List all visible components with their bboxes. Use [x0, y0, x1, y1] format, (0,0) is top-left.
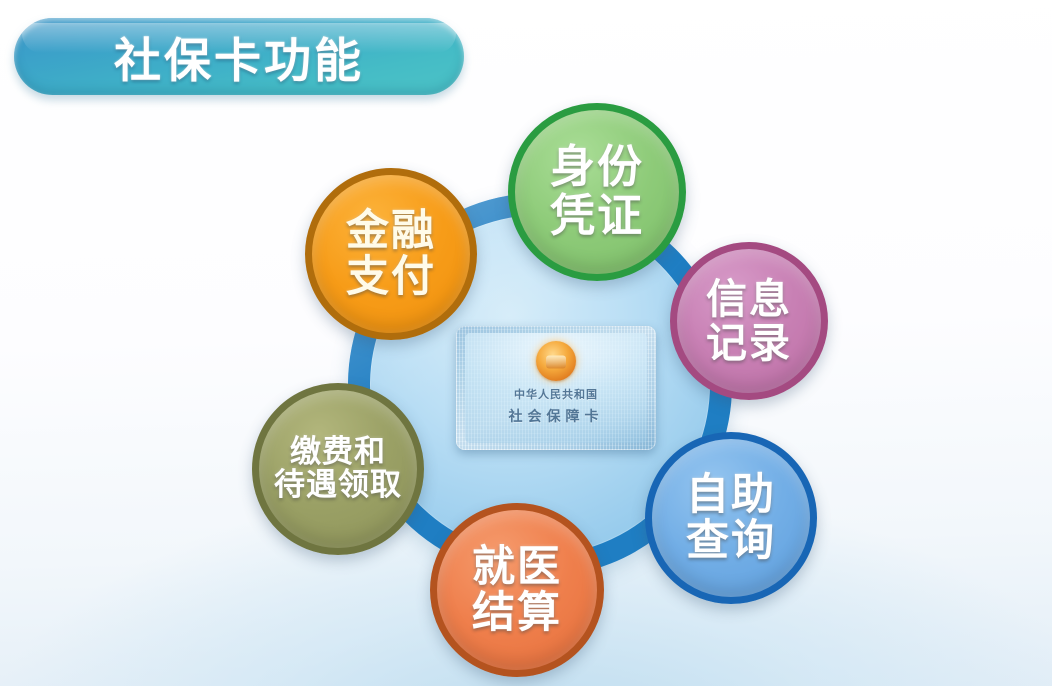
- bubble-medical-line2: 结算: [472, 590, 562, 636]
- bubble-finance-line1: 金融: [346, 208, 436, 254]
- national-emblem-icon: [536, 341, 576, 381]
- bubble-self-service-query[interactable]: 自助 查询: [645, 432, 817, 604]
- bubble-info-line1: 信息: [706, 277, 792, 321]
- title-banner: 社保卡功能: [14, 18, 464, 95]
- bubble-information-record[interactable]: 信息 记录: [670, 242, 828, 400]
- bubble-identity-line2: 凭证: [550, 192, 644, 241]
- bubble-payment-line2: 待遇领取: [274, 469, 402, 502]
- page-title: 社保卡功能: [114, 22, 364, 91]
- bubble-selfquery-line2: 查询: [686, 518, 776, 564]
- bubble-payment-line1: 缴费和: [290, 436, 386, 469]
- social-security-card-image: 中华人民共和国 社会保障卡: [456, 326, 656, 450]
- bubble-payment-and-benefits[interactable]: 缴费和 待遇领取: [252, 383, 424, 555]
- bubble-info-line2: 记录: [706, 321, 792, 365]
- bubble-finance-line2: 支付: [346, 254, 436, 300]
- card-country-label: 中华人民共和国: [456, 386, 656, 402]
- bubble-identity-line1: 身份: [550, 143, 644, 192]
- bubble-medical-line1: 就医: [472, 544, 562, 590]
- infographic-canvas: 社保卡功能 中华人民共和国 社会保障卡 身份 凭证 信息 记录 自助 查询 就医…: [0, 0, 1052, 686]
- bubble-financial-payment[interactable]: 金融 支付: [305, 168, 477, 340]
- bubble-medical-settlement[interactable]: 就医 结算: [430, 503, 604, 677]
- card-type-label: 社会保障卡: [456, 406, 656, 426]
- bubble-identity[interactable]: 身份 凭证: [508, 103, 686, 281]
- bubble-selfquery-line1: 自助: [686, 472, 776, 518]
